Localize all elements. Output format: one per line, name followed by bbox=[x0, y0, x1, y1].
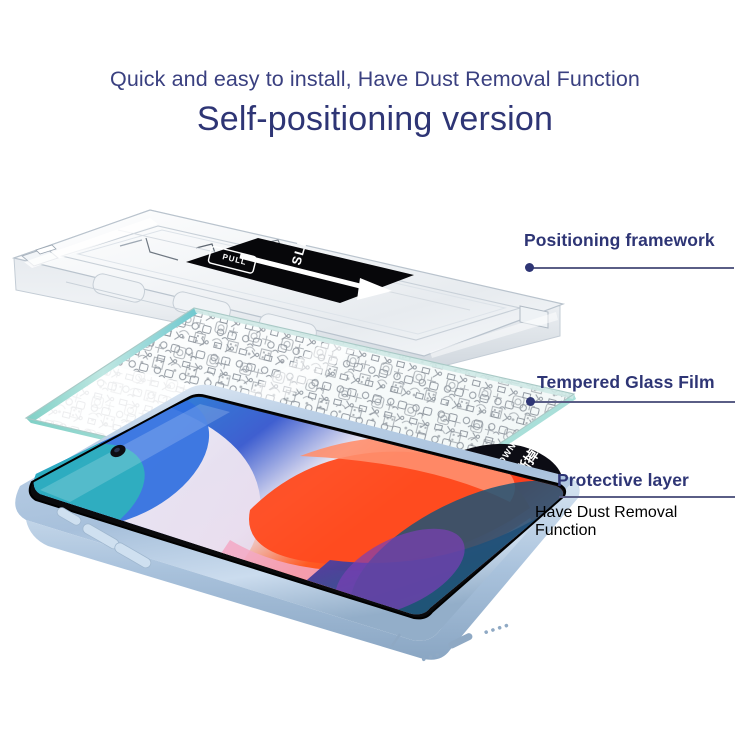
callout-label-positioning-framework: Positioning framework bbox=[524, 230, 715, 251]
callout-dot-positioning-framework bbox=[525, 263, 534, 272]
headline-block: Quick and easy to install, Have Dust Rem… bbox=[0, 66, 750, 141]
callout-rule-tempered-glass-film bbox=[530, 401, 735, 403]
callout-label-protective-layer: Protective layer bbox=[557, 470, 689, 491]
speaker-hole-5 bbox=[491, 628, 496, 633]
phone-artwork bbox=[0, 390, 660, 690]
product-infographic: Quick and easy to install, Have Dust Rem… bbox=[0, 0, 750, 750]
speaker-hole-7 bbox=[504, 623, 509, 628]
callout-positioning-framework: Positioning framework bbox=[524, 230, 715, 251]
speaker-hole-4 bbox=[484, 630, 489, 635]
callout-rule-protective-layer bbox=[559, 496, 735, 498]
callout-tempered-glass-film: Tempered Glass Film bbox=[537, 372, 715, 393]
callout-rule-positioning-framework bbox=[529, 267, 734, 269]
headline-title: Self-positioning version bbox=[0, 97, 750, 141]
callout-sub-line-2: Function bbox=[535, 522, 735, 540]
headline-subtitle: Quick and easy to install, Have Dust Rem… bbox=[0, 66, 750, 93]
callout-protective-layer: Protective layer bbox=[557, 470, 689, 491]
callout-sub-line-1: Have Dust Removal bbox=[535, 504, 735, 522]
callout-dot-tempered-glass-film bbox=[526, 397, 535, 406]
callout-sub-protective-layer: Have Dust Removal Function bbox=[535, 504, 735, 540]
speaker-hole-6 bbox=[497, 625, 502, 630]
callout-label-tempered-glass-film: Tempered Glass Film bbox=[537, 372, 715, 393]
